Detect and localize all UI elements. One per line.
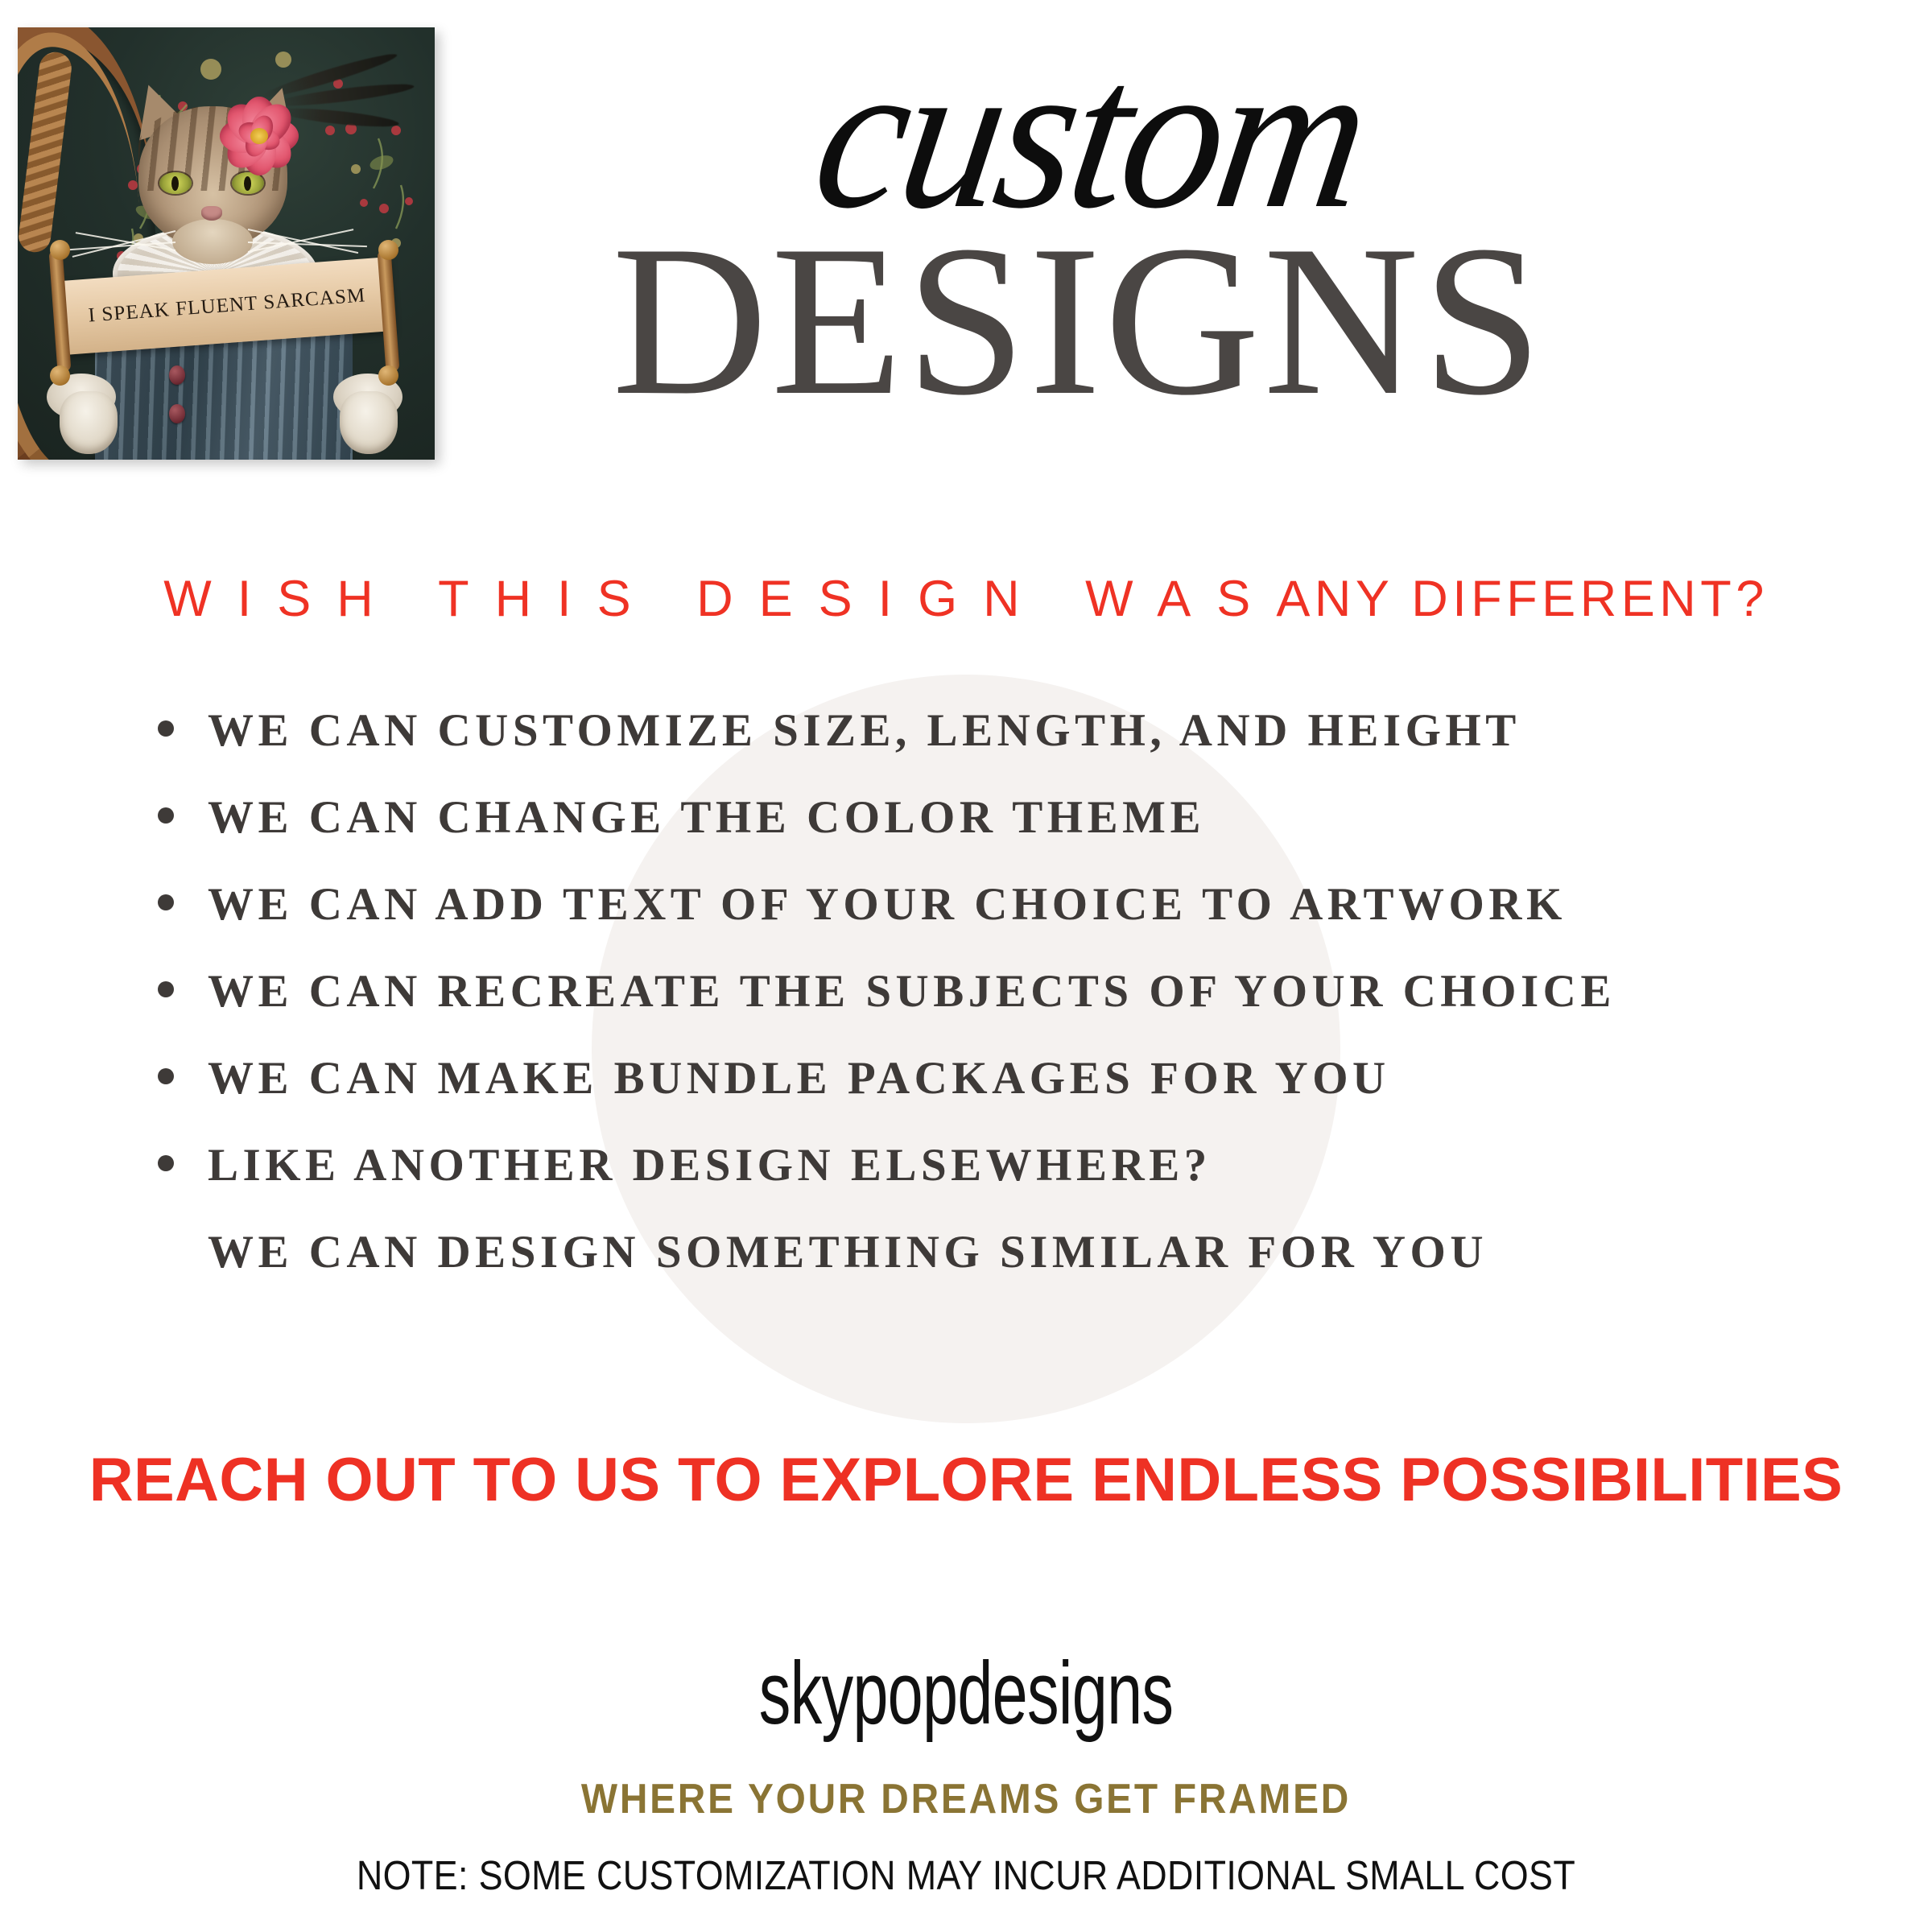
- list-item-label: WE CAN CHANGE THE COLOR THEME: [208, 791, 1205, 844]
- garnet-button: [169, 365, 185, 385]
- list-item: WE CAN CHANGE THE COLOR THEME: [158, 791, 1832, 878]
- cat-paw: [340, 391, 398, 454]
- headline-block: custom DESIGNS: [266, 48, 1868, 423]
- cat-nose: [201, 206, 222, 221]
- flower-center: [250, 128, 268, 144]
- garnet-button: [169, 404, 185, 423]
- list-item: WE CAN RECREATE THE SUBJECTS OF YOUR CHO…: [158, 965, 1832, 1052]
- scroll-knob: [378, 240, 398, 260]
- call-to-action-text: REACH OUT TO US TO EXPLORE ENDLESS POSSI…: [0, 1445, 1932, 1515]
- bullet-dot-icon: [158, 720, 174, 737]
- list-item-continuation-label: WE CAN DESIGN SOMETHING SIMILAR FOR YOU: [208, 1226, 1488, 1278]
- list-item: LIKE ANOTHER DESIGN ELSEWHERE?: [158, 1139, 1832, 1226]
- cat-muzzle: [172, 219, 253, 264]
- bullet-dot-icon: [158, 894, 174, 910]
- subtitle-question: WISH THIS DESIGN WASANY DIFFERENT?: [0, 570, 1932, 628]
- scroll-knob: [50, 365, 70, 386]
- bullet-dot-icon: [158, 807, 174, 824]
- list-item-label: LIKE ANOTHER DESIGN ELSEWHERE?: [208, 1139, 1212, 1191]
- list-item-label: WE CAN RECREATE THE SUBJECTS OF YOUR CHO…: [208, 965, 1616, 1018]
- list-item: WE CAN ADD TEXT OF YOUR CHOICE TO ARTWOR…: [158, 878, 1832, 965]
- bullet-dot-icon: [158, 1068, 174, 1084]
- pink-peony-flower-icon: [211, 92, 308, 180]
- bullet-dot-icon: [158, 1155, 174, 1171]
- headline-script-word: custom: [251, 43, 1882, 227]
- brand-tagline: WHERE YOUR DREAMS GET FRAMED: [77, 1775, 1855, 1823]
- product-thumbnail[interactable]: I SPEAK FLUENT SARCASM: [18, 27, 435, 460]
- subtitle-part-2: ANY DIFFERENT?: [1276, 571, 1768, 627]
- list-item: WE CAN MAKE BUNDLE PACKAGES FOR YOU: [158, 1052, 1832, 1139]
- cat-pupil-left: [171, 176, 179, 191]
- scroll-knob: [50, 240, 70, 260]
- cat-paw: [60, 391, 118, 454]
- brand-logo-text: skypopdesigns: [270, 1642, 1662, 1744]
- bullet-dot-icon: [158, 981, 174, 997]
- cat-portrait-artwork: I SPEAK FLUENT SARCASM: [18, 27, 435, 460]
- disclaimer-note: NOTE: SOME CUSTOMIZATION MAY INCUR ADDIT…: [116, 1851, 1816, 1899]
- feature-list: WE CAN CUSTOMIZE SIZE, LENGTH, AND HEIGH…: [158, 704, 1832, 1310]
- list-item: WE CAN CUSTOMIZE SIZE, LENGTH, AND HEIGH…: [158, 704, 1832, 791]
- list-item-label: WE CAN MAKE BUNDLE PACKAGES FOR YOU: [208, 1052, 1390, 1104]
- list-item-label: WE CAN CUSTOMIZE SIZE, LENGTH, AND HEIGH…: [208, 704, 1521, 757]
- subtitle-part-1: WISH THIS DESIGN WAS: [163, 571, 1276, 627]
- list-item-label: WE CAN ADD TEXT OF YOUR CHOICE TO ARTWOR…: [208, 878, 1567, 931]
- list-item-continuation: WE CAN DESIGN SOMETHING SIMILAR FOR YOU: [158, 1226, 1832, 1310]
- scroll-knob: [378, 365, 398, 386]
